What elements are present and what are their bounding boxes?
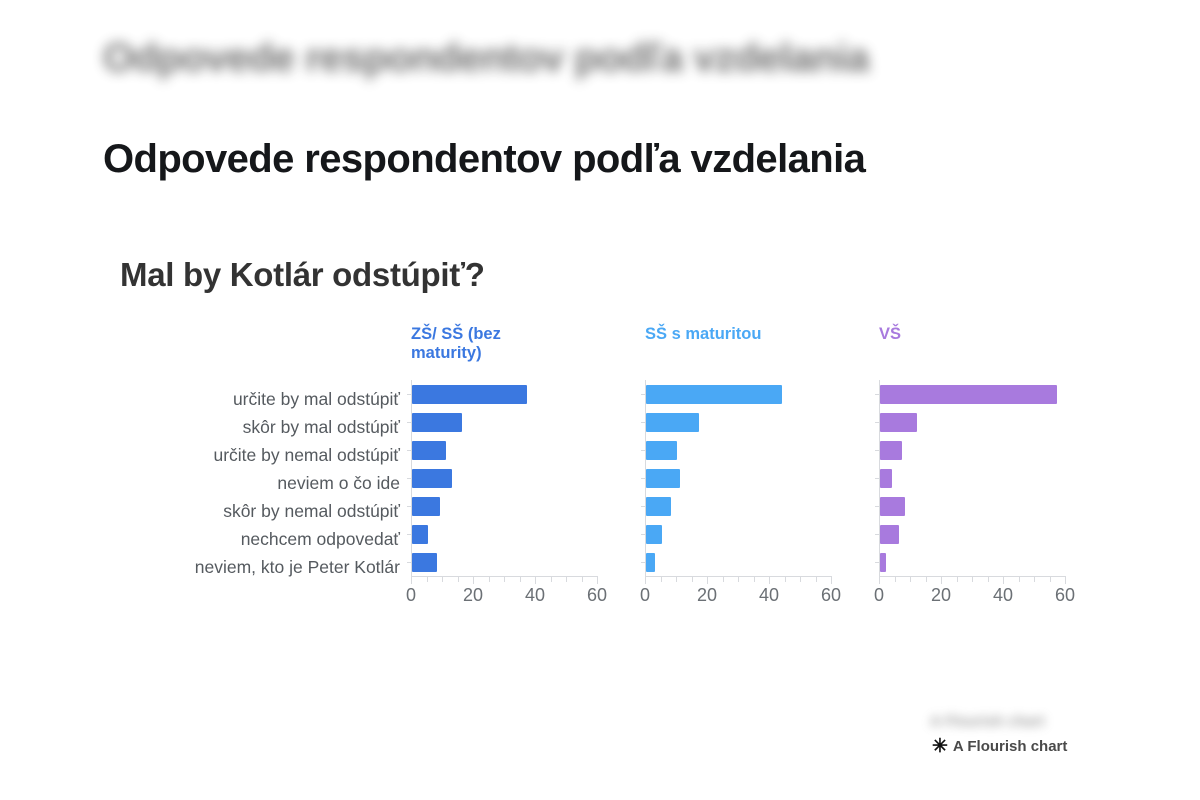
x-axis-minor-tick <box>1019 576 1020 582</box>
x-axis-tick-label: 40 <box>993 585 1013 606</box>
panel-x-axis: 0204060 <box>411 576 597 606</box>
chart-panel-zs-ss: ZŠ/ SŠ (bez maturity) 0204060 <box>411 325 641 606</box>
x-axis-tick-label: 20 <box>463 585 483 606</box>
x-axis-tick-label: 0 <box>406 585 416 606</box>
bar-row <box>646 408 832 436</box>
category-label: neviem o čo ide <box>0 469 402 497</box>
bar[interactable] <box>646 441 677 460</box>
x-axis-major-tick <box>473 576 474 584</box>
x-axis-tick-label: 0 <box>640 585 650 606</box>
x-axis-major-tick <box>831 576 832 584</box>
category-label: skôr by mal odstúpiť <box>0 413 402 441</box>
x-axis-minor-tick <box>676 576 677 582</box>
bar[interactable] <box>646 385 782 404</box>
x-axis-minor-tick <box>504 576 505 582</box>
x-axis-minor-tick <box>692 576 693 582</box>
x-axis-minor-tick <box>754 576 755 582</box>
bar[interactable] <box>412 413 462 432</box>
bar-row <box>646 436 832 464</box>
bar-row <box>412 408 598 436</box>
x-axis-tick-label: 60 <box>1055 585 1075 606</box>
x-axis-tick-label: 60 <box>821 585 841 606</box>
bar[interactable] <box>646 553 655 572</box>
flourish-credit[interactable]: ✳ A Flourish chart <box>932 737 1067 756</box>
chart-panel-ss-maturita: SŠ s maturitou 0204060 <box>645 325 875 606</box>
x-axis-minor-tick <box>458 576 459 582</box>
x-axis-minor-tick <box>442 576 443 582</box>
chart-panel-vs: VŠ 0204060 <box>879 325 1109 606</box>
flourish-asterisk-icon: ✳ <box>932 737 948 756</box>
panel-header-label: SŠ s maturitou <box>645 325 875 380</box>
x-axis-major-tick <box>535 576 536 584</box>
x-axis-minor-tick <box>489 576 490 582</box>
panel-bars <box>645 380 832 576</box>
blurred-page-footer: A Flourish chart <box>930 713 1105 735</box>
bar-row <box>646 464 832 492</box>
bar-row <box>412 464 598 492</box>
x-axis-minor-tick <box>926 576 927 582</box>
bar[interactable] <box>412 553 437 572</box>
x-axis-minor-tick <box>551 576 552 582</box>
flourish-credit-label: A Flourish chart <box>953 738 1067 755</box>
x-axis-minor-tick <box>661 576 662 582</box>
bar[interactable] <box>880 469 892 488</box>
bar-row <box>646 520 832 548</box>
bar-row <box>412 520 598 548</box>
bar[interactable] <box>412 525 428 544</box>
bar-row <box>646 548 832 576</box>
x-axis-major-tick <box>769 576 770 584</box>
bar-row <box>880 548 1066 576</box>
category-label: určite by nemal odstúpiť <box>0 441 402 469</box>
x-axis-major-tick <box>879 576 880 584</box>
x-axis-minor-tick <box>582 576 583 582</box>
bar[interactable] <box>646 469 680 488</box>
x-axis-tick-label: 40 <box>759 585 779 606</box>
page-title: Odpovede respondentov podľa vzdelania <box>103 137 865 182</box>
category-axis-labels: určite by mal odstúpiť skôr by mal odstú… <box>0 385 402 581</box>
x-axis-minor-tick <box>800 576 801 582</box>
x-axis-minor-tick <box>972 576 973 582</box>
bar-row <box>880 492 1066 520</box>
x-axis-minor-tick <box>910 576 911 582</box>
x-axis-minor-tick <box>988 576 989 582</box>
x-axis-tick-label: 20 <box>697 585 717 606</box>
bar[interactable] <box>412 441 446 460</box>
x-axis-minor-tick <box>957 576 958 582</box>
x-axis-minor-tick <box>566 576 567 582</box>
panel-x-axis: 0204060 <box>879 576 1065 606</box>
panel-x-axis: 0204060 <box>645 576 831 606</box>
x-axis-minor-tick <box>1034 576 1035 582</box>
bar-row <box>412 380 598 408</box>
bar-row <box>880 436 1066 464</box>
x-axis-minor-tick <box>816 576 817 582</box>
chart-container: Mal by Kotlár odstúpiť? určite by mal od… <box>0 240 1200 690</box>
x-axis-major-tick <box>411 576 412 584</box>
category-label: skôr by nemal odstúpiť <box>0 497 402 525</box>
panel-header-label: VŠ <box>879 325 1109 380</box>
bar[interactable] <box>412 469 452 488</box>
x-axis-tick-label: 0 <box>874 585 884 606</box>
bar[interactable] <box>880 553 886 572</box>
bar[interactable] <box>646 497 671 516</box>
x-axis-tick-label: 40 <box>525 585 545 606</box>
x-axis-tick-label: 60 <box>587 585 607 606</box>
x-axis-minor-tick <box>723 576 724 582</box>
bar-row <box>880 520 1066 548</box>
bar-row <box>412 548 598 576</box>
category-label: neviem, kto je Peter Kotlár <box>0 553 402 581</box>
bar-row <box>880 464 1066 492</box>
x-axis-major-tick <box>707 576 708 584</box>
x-axis-minor-tick <box>785 576 786 582</box>
bar[interactable] <box>646 525 662 544</box>
x-axis-minor-tick <box>520 576 521 582</box>
bar[interactable] <box>880 497 905 516</box>
bar[interactable] <box>412 497 440 516</box>
x-axis-minor-tick <box>895 576 896 582</box>
x-axis-minor-tick <box>427 576 428 582</box>
category-label: určite by mal odstúpiť <box>0 385 402 413</box>
bar-row <box>412 436 598 464</box>
bar[interactable] <box>880 525 899 544</box>
blurred-page-header: Odpovede respondentov podľa vzdelania <box>103 36 963 84</box>
bar[interactable] <box>880 385 1057 404</box>
panel-bars <box>879 380 1066 576</box>
bar[interactable] <box>880 413 917 432</box>
panel-header-label: ZŠ/ SŠ (bez maturity) <box>411 325 641 380</box>
x-axis-minor-tick <box>738 576 739 582</box>
bar[interactable] <box>412 385 527 404</box>
panel-bars <box>411 380 598 576</box>
bar[interactable] <box>880 441 902 460</box>
x-axis-major-tick <box>645 576 646 584</box>
bar-row <box>880 408 1066 436</box>
bar-row <box>646 492 832 520</box>
category-label: nechcem odpovedať <box>0 525 402 553</box>
bar-row <box>646 380 832 408</box>
x-axis-major-tick <box>597 576 598 584</box>
bar[interactable] <box>646 413 699 432</box>
x-axis-major-tick <box>1065 576 1066 584</box>
x-axis-minor-tick <box>1050 576 1051 582</box>
x-axis-tick-label: 20 <box>931 585 951 606</box>
bar-row <box>880 380 1066 408</box>
x-axis-major-tick <box>1003 576 1004 584</box>
bar-row <box>412 492 598 520</box>
x-axis-major-tick <box>941 576 942 584</box>
chart-title: Mal by Kotlár odstúpiť? <box>120 256 485 294</box>
